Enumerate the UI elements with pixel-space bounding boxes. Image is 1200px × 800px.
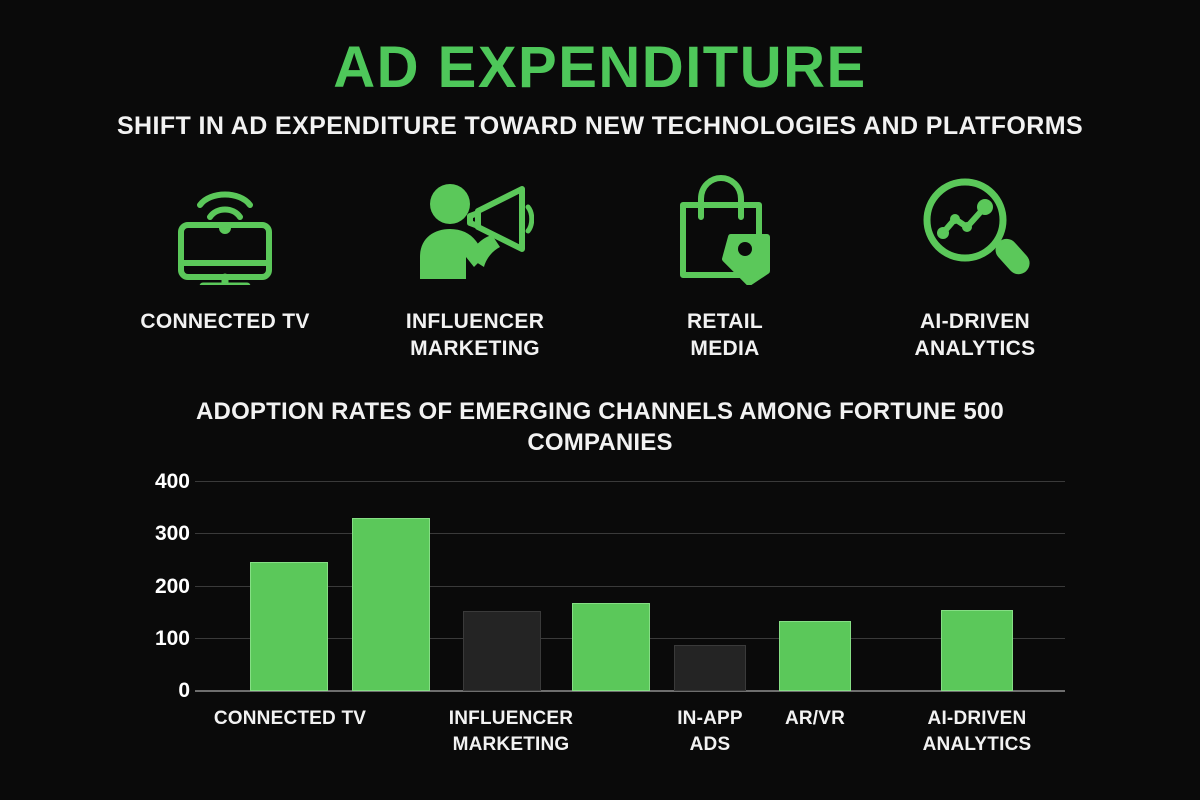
bar-ar-vr — [779, 621, 851, 691]
bar-influencer-marketing — [463, 611, 541, 691]
x-axis-label-ar-vr: AR/VR — [760, 706, 870, 732]
x-axis-label-influencer-marketing: INFLUENCER MARKETING — [411, 706, 611, 757]
y-tick-label: 0 — [130, 679, 190, 703]
y-tick-label: 200 — [130, 575, 190, 599]
bar-chart: 400 300 200 100 0 CONNECTED TV INFLUENCE… — [0, 0, 1200, 800]
y-tick-label: 300 — [130, 522, 190, 546]
y-tick-label: 100 — [130, 627, 190, 651]
gridline-300 — [195, 533, 1065, 534]
bar-connected-tv — [250, 562, 328, 691]
bar-connected-tv-2 — [352, 518, 430, 691]
x-axis-label-connected-tv: CONNECTED TV — [190, 706, 390, 732]
x-axis-label-ai-driven-analytics: AI-DRIVEN ANALYTICS — [877, 706, 1077, 757]
y-tick-label: 400 — [130, 470, 190, 494]
bar-influencer-marketing-2 — [572, 603, 650, 691]
infographic-page: AD EXPENDITURE SHIFT IN AD EXPENDITURE T… — [0, 0, 1200, 800]
bar-in-app-ads — [674, 645, 746, 691]
bar-ai-driven-analytics — [941, 610, 1013, 691]
gridline-400 — [195, 481, 1065, 482]
